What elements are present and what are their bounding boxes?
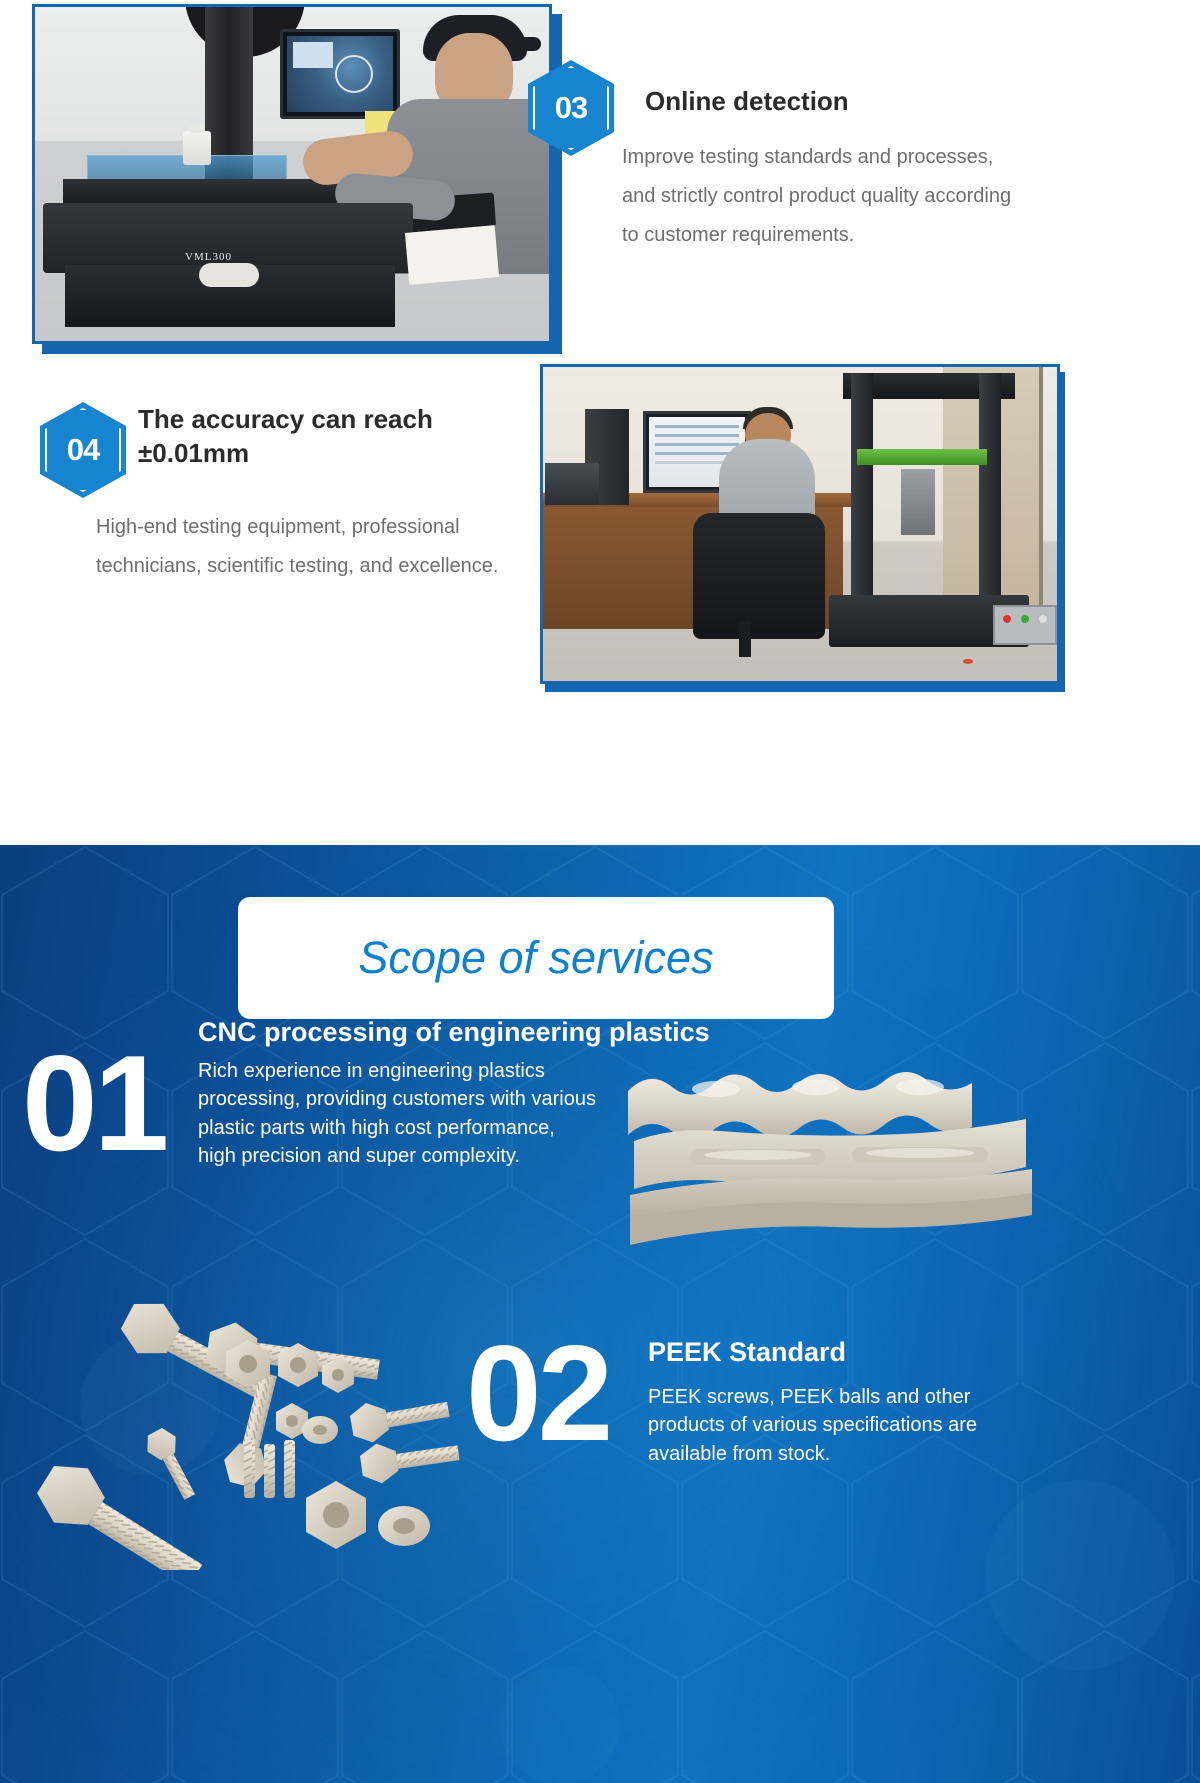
- roller: [199, 263, 259, 287]
- machine-post-left: [851, 373, 873, 597]
- monitor: [280, 29, 400, 119]
- panel-button: [1003, 615, 1011, 623]
- sample-bottle: [183, 131, 211, 165]
- scope-image-01: [620, 1045, 1040, 1260]
- scope-banner-title: Scope of services: [358, 932, 713, 984]
- office-chair: [693, 513, 825, 639]
- control-panel: [993, 605, 1057, 645]
- floor-marker: [963, 659, 973, 664]
- hex-nut-large: [306, 1481, 366, 1549]
- machine-post-right: [979, 373, 1001, 597]
- feature-title-04: The accuracy can reach ±0.01mm: [138, 402, 518, 471]
- feature-image-04: [540, 364, 1060, 684]
- printer: [545, 463, 599, 505]
- monitor-screen: [287, 36, 393, 112]
- scope-image-02: [30, 1270, 460, 1570]
- scope-banner-card: Scope of services: [238, 897, 834, 1019]
- machine-grip: [901, 469, 935, 535]
- feature-number-03: 03: [528, 60, 614, 156]
- feature-badge-04: 04: [40, 402, 126, 498]
- machine-model-label: VML300: [185, 251, 232, 263]
- tensile-testing-machine: [843, 373, 1015, 623]
- screen-panel: [293, 42, 333, 68]
- washer: [302, 1416, 338, 1444]
- features-section: VML300 03 Online detection Improve testi…: [0, 0, 1200, 845]
- feature-badge-03: 03: [528, 60, 614, 156]
- feature-body-04: High-end testing equipment, professional…: [96, 508, 520, 586]
- feature-body-03: Improve testing standards and processes,…: [622, 138, 1014, 255]
- panel-button: [1039, 615, 1047, 623]
- scope-of-services-section: Scope of services 01 CNC processing of e…: [0, 845, 1200, 1783]
- machine-crossbar: [857, 449, 987, 465]
- scope-number-02: 02: [466, 1325, 609, 1461]
- feature-number-04: 04: [40, 402, 126, 498]
- feature-title-03: Online detection: [645, 84, 1075, 118]
- chair-base: [739, 621, 751, 657]
- scope-number-01: 01: [22, 1035, 165, 1171]
- scope-body-01: Rich experience in engineering plastics …: [198, 1057, 598, 1171]
- panel-button: [1021, 615, 1029, 623]
- washer: [378, 1506, 430, 1546]
- scope-body-02: PEEK screws, PEEK balls and other produc…: [648, 1383, 1048, 1468]
- paper-documents: [405, 225, 499, 285]
- scope-title-01: CNC processing of engineering plastics: [198, 1017, 978, 1048]
- feature-image-03: VML300: [32, 4, 552, 344]
- scope-title-02: PEEK Standard: [648, 1337, 1068, 1368]
